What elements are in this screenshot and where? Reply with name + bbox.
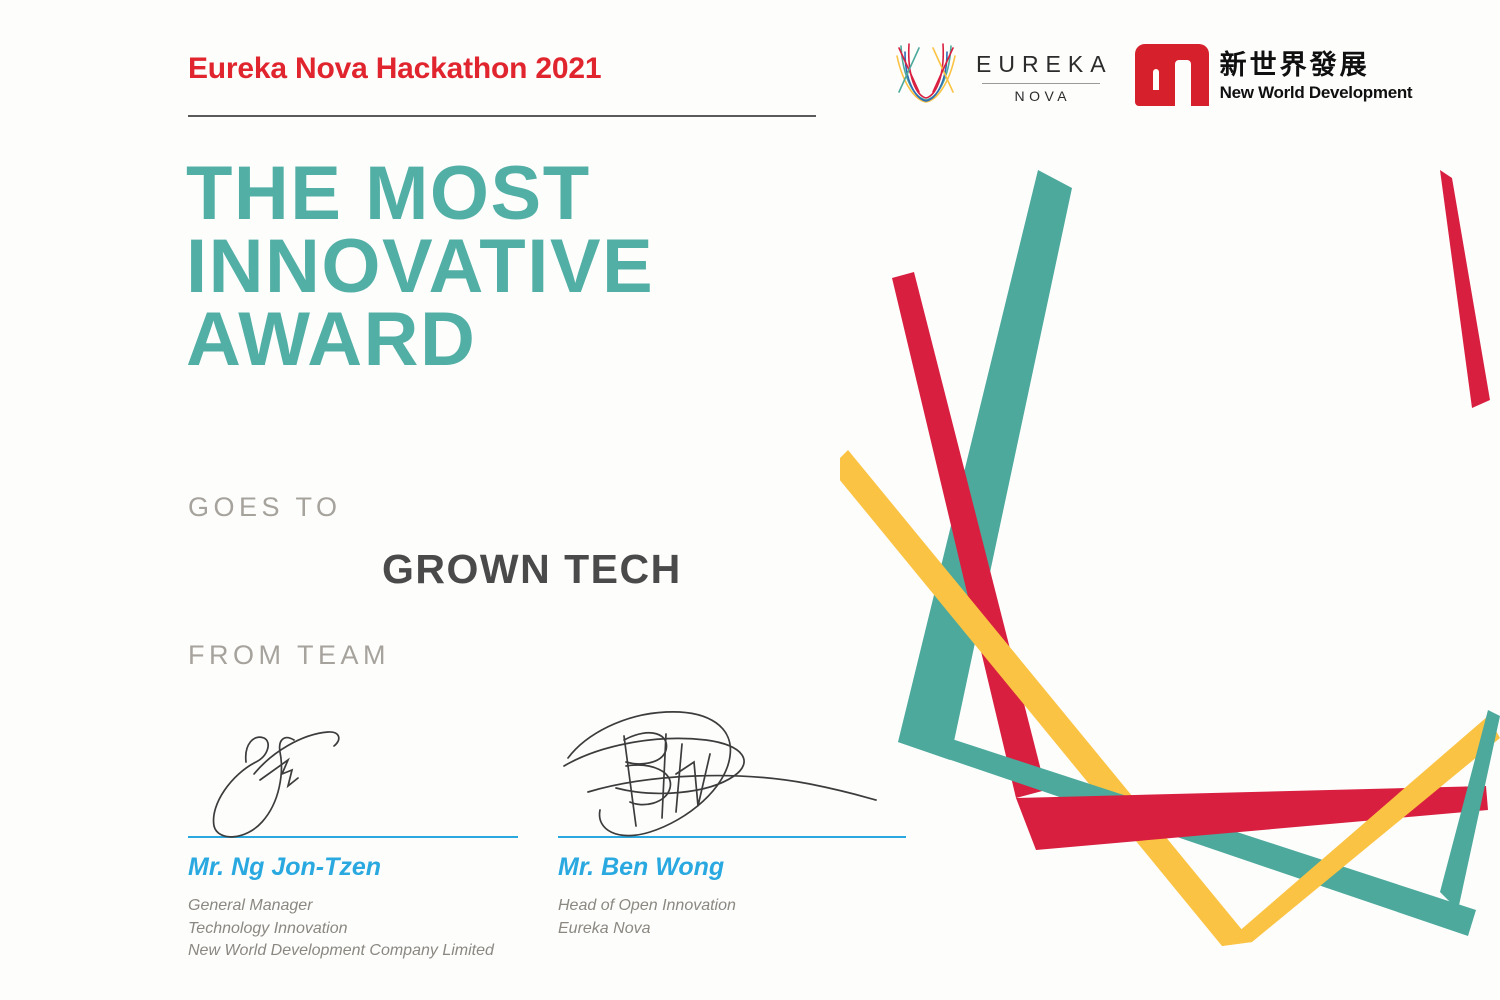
award-heading: THE MOST INNOVATIVE AWARD (186, 158, 846, 377)
eureka-nova-logo: EUREKA NOVA (893, 38, 1113, 117)
new-world-development-wordmark: 新世界發展 New World Development (1220, 52, 1413, 102)
recipient-name: GROWN TECH (382, 546, 682, 593)
signature-ink-ben-wong (558, 700, 918, 836)
goes-to-label: GOES TO (188, 492, 342, 523)
yellow-ribbon-right (1222, 716, 1500, 946)
award-heading-line-1: THE MOST (186, 158, 846, 231)
award-heading-line-3: AWARD (186, 304, 846, 377)
signature-ink-ng-jon-tzen (188, 700, 518, 836)
eureka-name: EUREKA (969, 51, 1113, 78)
eureka-divider (982, 83, 1100, 84)
from-team-label: FROM TEAM (188, 640, 390, 671)
teal-ribbon-right (1440, 710, 1500, 910)
signature-rule (558, 836, 906, 838)
new-world-development-maze-icon (1135, 42, 1209, 113)
signatory-name: Mr. Ben Wong (558, 853, 918, 882)
signature-block: Mr. Ng Jon-Tzen General Manager Technolo… (188, 700, 518, 963)
signatory-titles: General Manager Technology Innovation Ne… (188, 895, 518, 963)
signatory-name: Mr. Ng Jon-Tzen (188, 853, 518, 882)
new-world-development-logo: 新世界發展 New World Development (1135, 42, 1413, 113)
signatory-title-line: Eureka Nova (558, 918, 918, 941)
teal-ribbon-lower (898, 724, 1476, 936)
signatory-title-line: Head of Open Innovation (558, 895, 918, 918)
red-ribbon-lower (1016, 786, 1488, 850)
eureka-nova-arc-icon (893, 38, 959, 117)
logo-row: EUREKA NOVA 新世界發展 New World Development (893, 38, 1412, 117)
signatory-titles: Head of Open Innovation Eureka Nova (558, 895, 918, 940)
eureka-nova-wordmark: EUREKA NOVA (969, 51, 1113, 104)
page-title: Eureka Nova Hackathon 2021 (188, 52, 601, 86)
award-heading-line-2: INNOVATIVE (186, 231, 846, 304)
title-divider (188, 115, 816, 117)
red-ribbon-right (1440, 170, 1490, 408)
teal-ribbon-left (898, 170, 1072, 760)
eureka-nova-ribbon-artwork (840, 150, 1500, 950)
signatory-title-line: Technology Innovation (188, 918, 518, 941)
signatory-title-line: New World Development Company Limited (188, 940, 518, 963)
certificate-page: Eureka Nova Hackathon 2021 (0, 0, 1500, 1000)
signatory-title-line: General Manager (188, 895, 518, 918)
signature-block: Mr. Ben Wong Head of Open Innovation Eur… (558, 700, 918, 940)
eureka-sub: NOVA (1010, 88, 1071, 104)
nwd-name-cn: 新世界發展 (1220, 52, 1413, 80)
nwd-name-en: New World Development (1220, 83, 1413, 103)
